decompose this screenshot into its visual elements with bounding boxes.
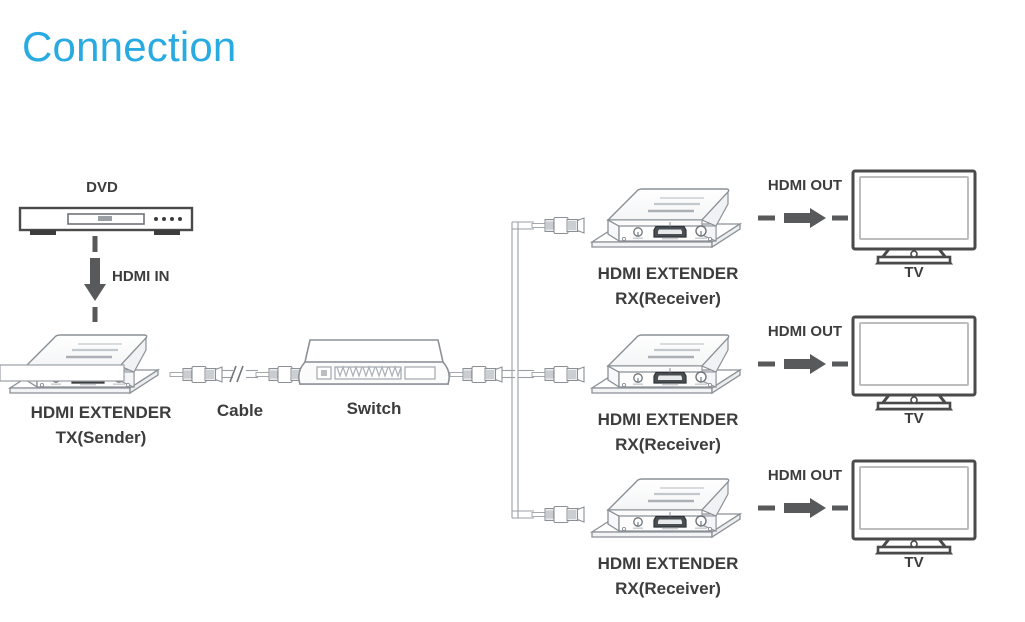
rx-extender-label-1-line2: RX(Receiver) [592,288,744,309]
rx-extender-label-3-line2: RX(Receiver) [592,578,744,599]
rx-extender-label-1-line1: HDMI EXTENDER [592,263,744,284]
hdmi-out-arrow-3 [758,498,848,518]
hdmi-out-label-1: HDMI OUT [755,177,855,196]
tv-label-2: TV [884,410,944,429]
hdmi-out-label-3: HDMI OUT [755,467,855,486]
rx-extender-label-2-line1: HDMI EXTENDER [592,409,744,430]
hdmi-in-label: HDMI IN [112,268,212,287]
rj45-connector [532,367,584,383]
dvd-player [20,208,192,235]
rx-extender-device-1 [592,189,740,247]
dvd-label: DVD [62,179,142,198]
hdmi-in-arrow [84,236,106,322]
cable-label: Cable [198,400,282,421]
rj45-connector [256,367,308,383]
tv-device-1 [853,171,975,263]
hdmi-out-arrow-2 [758,354,848,374]
tx-extender-label-line2: TX(Sender) [6,427,196,448]
hdmi-out-label-2: HDMI OUT [755,323,855,342]
tv-device-2 [853,317,975,409]
hdmi-out-arrow-1 [758,208,848,228]
rx-extender-device-2 [592,335,740,393]
network-switch-device [0,340,449,384]
rx-extender-device-3 [592,479,740,537]
rx-extender-label-2-line2: RX(Receiver) [592,434,744,455]
rj45-connector [532,507,584,523]
tv-label-1: TV [884,264,944,283]
cable-tx-to-switch [170,366,308,383]
rj45-connector [170,367,222,383]
tv-label-3: TV [884,554,944,573]
switch-label: Switch [330,398,418,419]
rx-extender-label-3-line1: HDMI EXTENDER [592,553,744,574]
cable-branch-tree [512,222,534,518]
rj45-connector [450,367,502,383]
tx-extender-device [10,335,158,393]
tv-device-3 [853,461,975,553]
page-title: Connection [22,26,236,68]
rj45-connector [532,218,584,234]
cable-switch-to-branch [450,367,515,383]
tx-extender-label-line1: HDMI EXTENDER [6,402,196,423]
connection-diagram: Connection [0,0,1025,622]
diagram-canvas [0,0,1025,622]
